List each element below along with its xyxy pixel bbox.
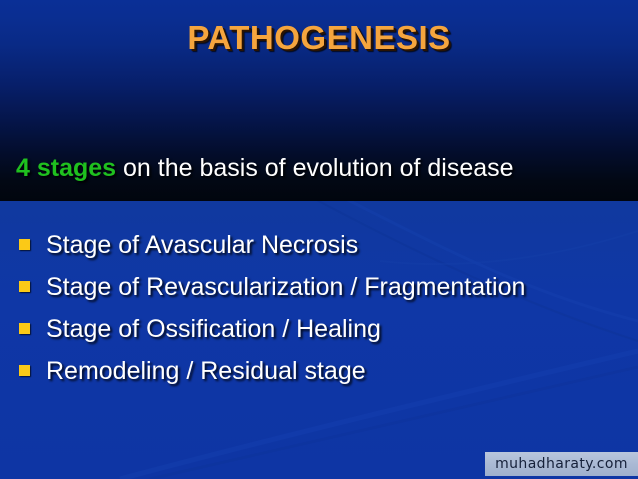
watermark-label: muhadharaty.com [495,456,628,472]
list-item-label: Stage of Ossification / Healing [46,312,381,346]
list-item: Remodeling / Residual stage [0,354,638,396]
subtitle-line: 4 stages on the basis of evolution of di… [16,154,630,183]
square-bullet-icon [19,365,30,376]
list-item-label: Stage of Avascular Necrosis [46,228,358,262]
list-item-label: Stage of Revascularization / Fragmentati… [46,270,525,304]
square-bullet-icon [19,239,30,250]
subtitle-highlight: 4 stages [16,154,116,182]
list-item: Stage of Ossification / Healing [0,312,638,354]
list-item: Stage of Avascular Necrosis [0,228,638,270]
presentation-slide: PATHOGENESIS 4 stages on the basis of ev… [0,0,638,479]
watermark-badge: muhadharaty.com [485,452,638,476]
subtitle-rest: on the basis of evolution of disease [116,154,514,182]
square-bullet-icon [19,323,30,334]
list-item-label: Remodeling / Residual stage [46,354,366,388]
page-title: PATHOGENESIS [0,19,638,57]
list-item: Stage of Revascularization / Fragmentati… [0,270,638,312]
stage-list: Stage of Avascular Necrosis Stage of Rev… [0,228,638,396]
square-bullet-icon [19,281,30,292]
